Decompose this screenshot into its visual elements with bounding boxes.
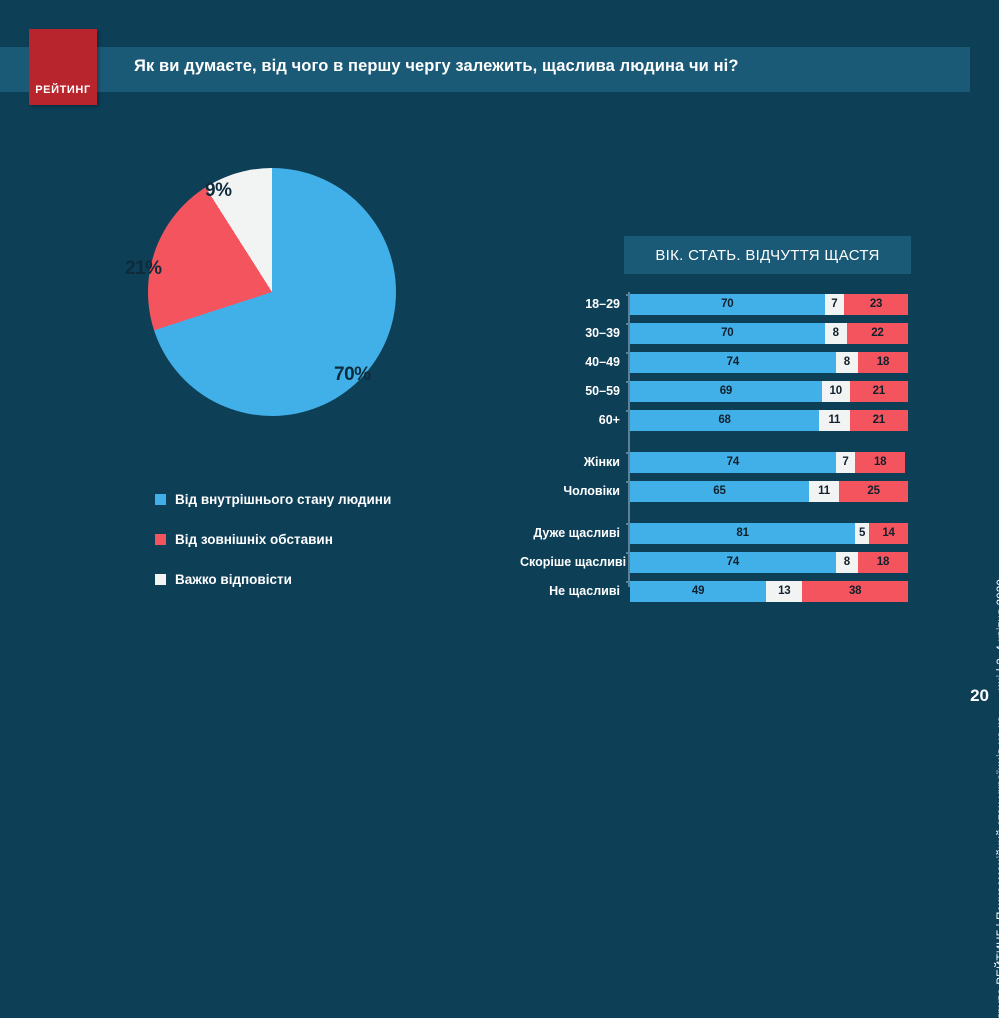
bar-segment-value: 8 <box>844 556 850 568</box>
bar-segment-value: 74 <box>727 356 739 368</box>
bar-row: Чоловіки651125 <box>520 479 910 503</box>
logo-label: РЕЙТИНГ <box>29 84 97 96</box>
bar-segment-value: 21 <box>873 414 885 426</box>
bar-segment-value: 8 <box>844 356 850 368</box>
footer-shade <box>0 690 999 716</box>
bar-segment-value: 25 <box>867 485 879 497</box>
axis-tick <box>626 523 630 525</box>
bar-segment-value: 10 <box>830 385 842 397</box>
bar-segment-value: 8 <box>833 327 839 339</box>
bar-segment-value: 38 <box>849 585 861 597</box>
legend-swatch-icon-blue <box>155 494 166 505</box>
bar-segment-blue: 69 <box>630 381 822 402</box>
rating-logo: РЕЙТИНГ <box>29 29 97 105</box>
axis-tick <box>626 452 630 454</box>
bar-segment-red: 21 <box>850 381 908 402</box>
bar-segment-value: 22 <box>871 327 883 339</box>
bar-segment-blue: 49 <box>630 581 766 602</box>
pie-slice-label-external: 21% <box>125 258 162 280</box>
bar-segment-white: 8 <box>825 323 847 344</box>
bar-segment-value: 7 <box>842 456 848 468</box>
axis-tick <box>626 294 630 296</box>
bar-segment-value: 18 <box>877 356 889 368</box>
legend-item-external: Від зовнішніх обставин <box>155 519 485 559</box>
bar-segment-value: 68 <box>718 414 730 426</box>
bar-segment-value: 70 <box>721 327 733 339</box>
bar-segment-red: 18 <box>858 352 908 373</box>
bar-segment-red: 18 <box>858 552 908 573</box>
bar-row: Жінки74718 <box>520 450 910 474</box>
legend-item-internal: Від внутрішнього стану людини <box>155 479 485 519</box>
breakdown-panel-title: ВІК. СТАТЬ. ВІДЧУТТЯ ЩАСТЯ <box>655 247 879 264</box>
bar-segment-red: 18 <box>855 452 905 473</box>
bar-row-label: Скоріше щасливі <box>520 555 628 569</box>
bar-segment-blue: 74 <box>630 552 836 573</box>
bar-segment-value: 70 <box>721 298 733 310</box>
pie-chart: 70% 21% 9% <box>148 168 396 416</box>
bar-segment-value: 11 <box>828 414 840 426</box>
bar-row-label: 40–49 <box>520 355 628 369</box>
bar-segment-value: 69 <box>720 385 732 397</box>
pie-legend: Від внутрішнього стану людини Від зовніш… <box>155 479 485 599</box>
bar-row-label: Не щасливі <box>520 584 628 598</box>
bar-segment-white: 10 <box>822 381 850 402</box>
bar-track: 74718 <box>630 452 908 473</box>
bar-row-label: 60+ <box>520 413 628 427</box>
bar-track: 74818 <box>630 352 908 373</box>
bar-segment-red: 23 <box>844 294 908 315</box>
legend-swatch-icon-white <box>155 574 166 585</box>
bar-track: 681121 <box>630 410 908 431</box>
bar-row: 18–2970723 <box>520 292 910 316</box>
bar-segment-white: 8 <box>836 352 858 373</box>
axis-tick <box>626 552 630 554</box>
bar-row: Скоріше щасливі74818 <box>520 550 910 574</box>
legend-label-external: Від зовнішніх обставин <box>175 532 333 547</box>
breakdown-panel-header: ВІК. СТАТЬ. ВІДЧУТТЯ ЩАСТЯ <box>624 236 911 274</box>
bar-segment-blue: 74 <box>630 452 836 473</box>
axis-tick <box>626 352 630 354</box>
bar-row-label: 50–59 <box>520 384 628 398</box>
bar-segment-red: 25 <box>839 481 908 502</box>
axis-tick <box>626 481 630 483</box>
bar-row-label: 18–29 <box>520 297 628 311</box>
bar-segment-value: 21 <box>873 385 885 397</box>
bar-track: 491338 <box>630 581 908 602</box>
legend-item-hard-to-say: Важко відповісти <box>155 559 485 599</box>
legend-label-internal: Від внутрішнього стану людини <box>175 492 391 507</box>
bar-segment-red: 21 <box>850 410 908 431</box>
bar-row: 40–4974818 <box>520 350 910 374</box>
bar-track: 691021 <box>630 381 908 402</box>
bar-row-label: Дуже щасливі <box>520 526 628 540</box>
bar-segment-blue: 65 <box>630 481 809 502</box>
bar-segment-value: 7 <box>831 298 837 310</box>
bar-segment-value: 18 <box>874 456 886 468</box>
bar-segment-value: 11 <box>818 485 830 497</box>
axis-tick <box>626 381 630 383</box>
bar-segment-value: 49 <box>692 585 704 597</box>
bar-segment-value: 18 <box>877 556 889 568</box>
bar-segment-value: 81 <box>736 527 748 539</box>
axis-tick <box>626 410 630 412</box>
page-number: 20 <box>970 686 989 706</box>
bar-row: 50–59691021 <box>520 379 910 403</box>
legend-label-hard-to-say: Важко відповісти <box>175 572 292 587</box>
bar-segment-value: 13 <box>778 585 790 597</box>
pie-slice-label-hard-to-say: 9% <box>205 180 231 202</box>
bar-segment-value: 74 <box>727 556 739 568</box>
bar-row-label: 30–39 <box>520 326 628 340</box>
bar-row: Дуже щасливі81514 <box>520 521 910 545</box>
bar-segment-white: 5 <box>855 523 869 544</box>
bar-segment-white: 8 <box>836 552 858 573</box>
bar-segment-white: 11 <box>819 410 850 431</box>
bar-track: 70822 <box>630 323 908 344</box>
bar-segment-value: 65 <box>713 485 725 497</box>
stacked-bar-chart: 18–297072330–397082240–497481850–5969102… <box>520 292 910 608</box>
bar-row: 30–3970822 <box>520 321 910 345</box>
bar-segment-value: 23 <box>870 298 882 310</box>
bar-segment-blue: 74 <box>630 352 836 373</box>
bar-track: 81514 <box>630 523 908 544</box>
bar-segment-blue: 68 <box>630 410 819 431</box>
bar-track: 70723 <box>630 294 908 315</box>
bar-segment-white: 7 <box>825 294 844 315</box>
bar-segment-white: 13 <box>766 581 802 602</box>
bar-row: Не щасливі491338 <box>520 579 910 603</box>
pie-slice-label-internal: 70% <box>334 364 371 386</box>
side-strip: група РЕЙТИНГ | Психоемоційний стан укра… <box>970 0 999 716</box>
bar-segment-blue: 70 <box>630 323 825 344</box>
axis-tick <box>626 581 630 583</box>
bar-segment-blue: 81 <box>630 523 855 544</box>
bar-segment-red: 14 <box>869 523 908 544</box>
bar-segment-value: 74 <box>727 456 739 468</box>
page-title: Як ви думаєте, від чого в першу чергу за… <box>134 57 934 76</box>
bar-segment-red: 22 <box>847 323 908 344</box>
axis-tick <box>626 323 630 325</box>
bar-segment-white: 7 <box>836 452 855 473</box>
bar-segment-value: 5 <box>859 527 865 539</box>
bar-row: 60+681121 <box>520 408 910 432</box>
bar-segment-value: 14 <box>882 527 894 539</box>
bar-segment-white: 11 <box>809 481 839 502</box>
legend-swatch-icon-red <box>155 534 166 545</box>
bar-segment-blue: 70 <box>630 294 825 315</box>
bar-segment-red: 38 <box>802 581 908 602</box>
bar-row-label: Чоловіки <box>520 484 628 498</box>
bar-row-label: Жінки <box>520 455 628 469</box>
bar-track: 74818 <box>630 552 908 573</box>
bar-track: 651125 <box>630 481 908 502</box>
